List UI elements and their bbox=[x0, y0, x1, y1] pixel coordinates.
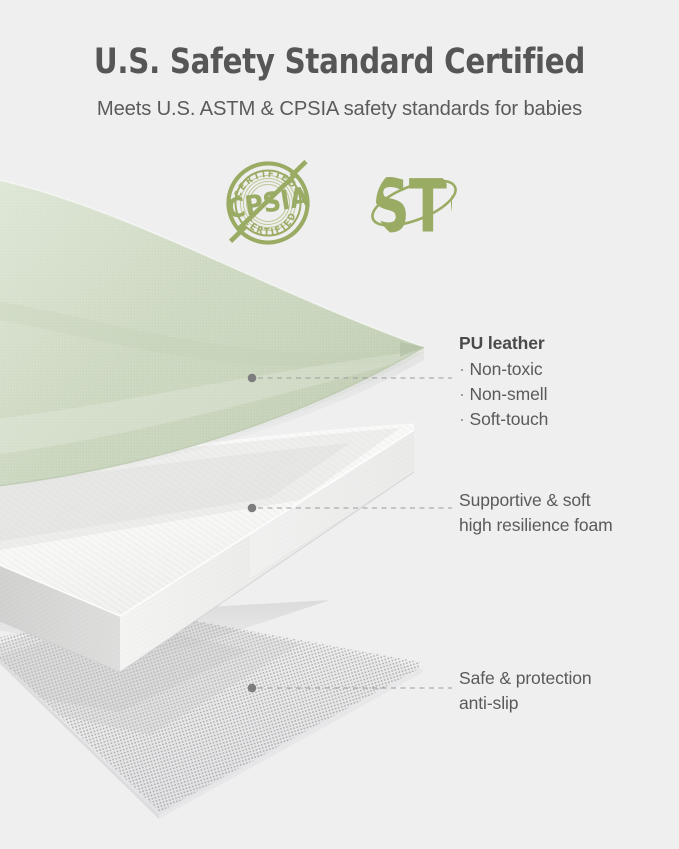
callout-slip-line-2: anti-slip bbox=[459, 691, 592, 716]
leader-lines bbox=[248, 374, 452, 693]
callout-pu-leather: PU leather · Non-toxic · Non-smell · Sof… bbox=[459, 331, 548, 431]
callout-foam-line-1: Supportive & soft bbox=[459, 488, 613, 513]
callout-foam: Supportive & soft high resilience foam bbox=[459, 488, 613, 538]
bullet-text: Non-smell bbox=[470, 384, 548, 404]
astm-badge-icon: ASTM bbox=[364, 155, 464, 251]
callout-pu-bullet-2: · Non-smell bbox=[459, 382, 548, 407]
leader-pu-leather bbox=[248, 374, 452, 383]
callout-foam-line-2: high resilience foam bbox=[459, 513, 613, 538]
header: U.S. Safety Standard Certified Meets U.S… bbox=[0, 0, 679, 121]
leader-foam bbox=[248, 504, 452, 513]
bullet-text: Non-toxic bbox=[470, 359, 543, 379]
callout-pu-heading: PU leather bbox=[459, 331, 548, 356]
layer-foam bbox=[0, 420, 428, 672]
callout-pu-bullet-1: · Non-toxic bbox=[459, 357, 548, 382]
bullet-marker: · bbox=[459, 359, 465, 379]
certification-badges: CERTIFIED CERTIFIED CPSIA A bbox=[0, 155, 679, 251]
callout-pu-bullet-3: · Soft-touch bbox=[459, 407, 548, 432]
page-subtitle: Meets U.S. ASTM & CPSIA safety standards… bbox=[5, 97, 674, 121]
layer-stack-illustration bbox=[0, 0, 679, 849]
callout-slip-line-1: Safe & protection bbox=[459, 666, 592, 691]
page-title: U.S. Safety Standard Certified bbox=[24, 44, 655, 81]
cpsia-badge-icon: CERTIFIED CERTIFIED CPSIA bbox=[216, 155, 320, 251]
bullet-text: Soft-touch bbox=[470, 409, 549, 429]
callout-anti-slip: Safe & protection anti-slip bbox=[459, 666, 592, 716]
bullet-marker: · bbox=[459, 409, 465, 429]
leader-anti-slip bbox=[248, 684, 452, 693]
bullet-marker: · bbox=[459, 384, 465, 404]
layer-anti-slip bbox=[0, 595, 438, 825]
infographic-canvas: U.S. Safety Standard Certified Meets U.S… bbox=[0, 0, 679, 849]
